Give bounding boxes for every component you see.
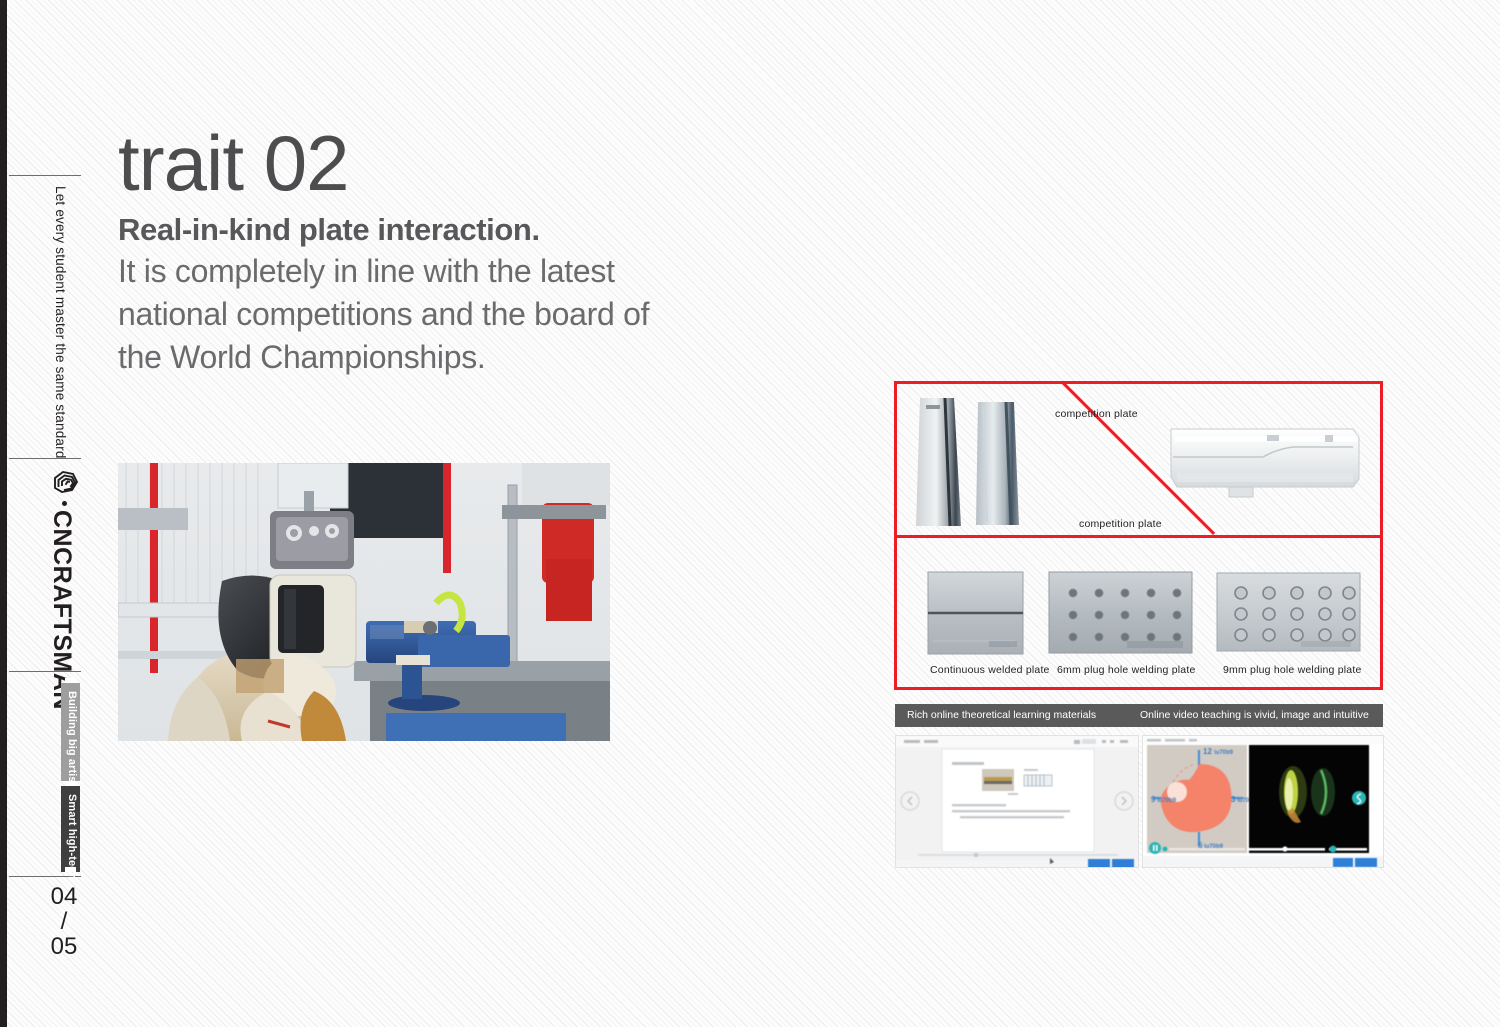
page-number-slash: / (37, 909, 91, 934)
svg-text:\u70b9: \u70b9 (1157, 798, 1177, 804)
continuous-welded-plate (927, 571, 1024, 655)
online-theory-courseware-screenshot (895, 735, 1139, 868)
svg-text:12: 12 (1203, 747, 1212, 756)
headline-block: trait 02 Real-in-kind plate interaction.… (118, 124, 818, 379)
page-number: 04 / 05 (37, 884, 91, 959)
label-6mm-plug-hole-welding-plate: 6mm plug hole welding plate (1057, 664, 1195, 676)
lower-plate-row: Continuous welded plate 6mm plug hole we… (897, 538, 1380, 690)
svg-text:3: 3 (1231, 795, 1236, 804)
page-canvas: Let every student master the same standa… (0, 0, 1500, 1027)
brand-separator-dot (62, 501, 67, 506)
subtitle-body: It is completely in line with the latest… (118, 250, 678, 379)
label-9mm-plug-hole-welding-plate: 9mm plug hole welding plate (1223, 664, 1361, 676)
caption-online-materials: Rich online theoretical learning materia… (907, 709, 1096, 721)
page-number-total: 05 (37, 934, 91, 959)
tapered-steel-plate-right (973, 402, 1021, 528)
page-number-current: 04 (37, 884, 91, 909)
plate-showcase-panel: competition plate competition plate (894, 381, 1383, 690)
online-video-teaching-screenshot: 12\u70b9 3\u70b9 6\u70b9 9\u70b9 (1142, 735, 1384, 868)
label-competition-plate-1: competition plate (1055, 408, 1138, 420)
subtitle-bold: Real-in-kind plate interaction. (118, 210, 818, 250)
label-continuous-welded-plate: Continuous welded plate (930, 664, 1050, 676)
sidebar-tagline: Let every student master the same standa… (53, 186, 68, 459)
page-title: trait 02 (118, 124, 818, 202)
badge-smart-high-tech: Smart high-tech (61, 786, 80, 872)
sidebar-divider-top (9, 175, 81, 176)
label-competition-plate-2: competition plate (1079, 518, 1162, 530)
caption-online-video: Online video teaching is vivid, image an… (1140, 709, 1369, 721)
pill-notch-bottom (65, 867, 76, 872)
svg-text:9: 9 (1151, 795, 1156, 804)
caption-bar: Rich online theoretical learning materia… (895, 704, 1383, 727)
badge-building-big-artisans: Building big artisans (61, 683, 80, 781)
six-mm-plug-hole-plate (1047, 569, 1195, 657)
nine-mm-plug-hole-plate (1215, 571, 1363, 654)
tapered-steel-plate-left (914, 398, 962, 529)
large-white-competition-panel (1167, 417, 1362, 501)
sidebar-divider-mid (9, 458, 81, 459)
sidebar: Let every student master the same standa… (7, 0, 85, 1027)
svg-text:\u70b9: \u70b9 (1214, 750, 1234, 756)
left-spine (0, 0, 7, 1027)
welding-workshop-photo (118, 463, 610, 741)
hexagon-swirl-logo-icon (49, 468, 83, 498)
